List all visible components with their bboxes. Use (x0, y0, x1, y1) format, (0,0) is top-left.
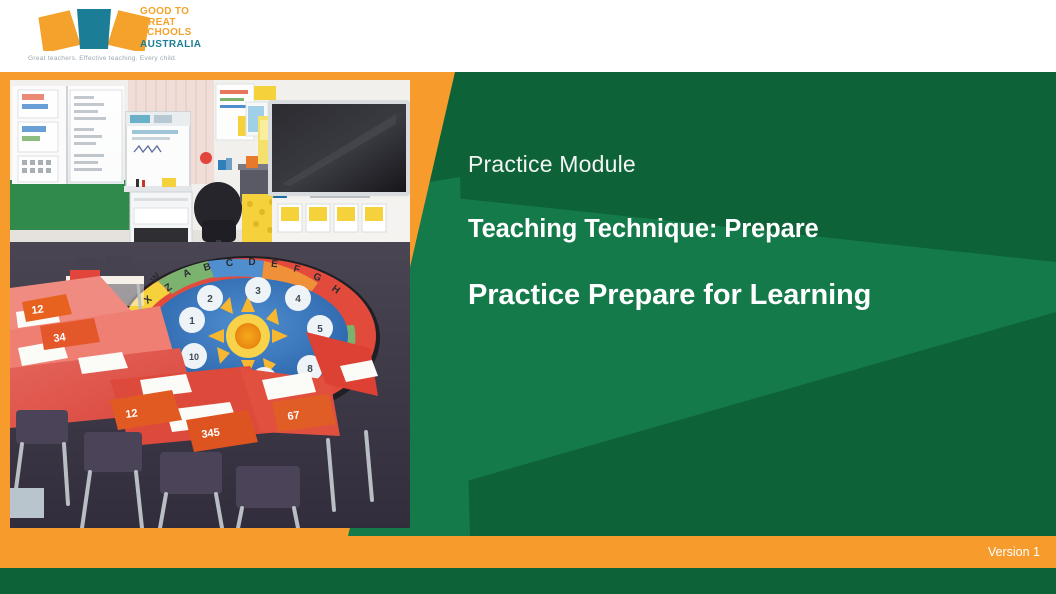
svg-text:10: 10 (189, 352, 199, 362)
classroom-photo: W X Y Z A B C D E F G H (10, 80, 410, 528)
title-text-block: Practice Module Teaching Technique: Prep… (468, 150, 1028, 312)
logo-name-line-1: GOOD TO (140, 7, 220, 18)
technique-title: Teaching Technique: Prepare (468, 214, 1028, 244)
svg-text:345: 345 (201, 427, 221, 441)
svg-text:3: 3 (255, 286, 261, 297)
version-label: Version 1 (988, 536, 1040, 568)
classroom-illustration: W X Y Z A B C D E F G H (10, 80, 410, 528)
svg-text:12: 12 (125, 407, 139, 421)
title-slide: GOOD TO GREAT SCHOOLS AUSTRALIA Great te… (0, 0, 1056, 594)
orange-footer-band: Version 1 (0, 536, 1056, 568)
logo-country-line: AUSTRALIA (140, 39, 220, 51)
svg-text:1: 1 (189, 316, 195, 327)
svg-text:5: 5 (317, 324, 323, 335)
svg-text:C: C (225, 258, 234, 270)
good-to-great-schools-logo: GOOD TO GREAT SCHOOLS AUSTRALIA Great te… (22, 3, 208, 69)
module-eyebrow: Practice Module (468, 150, 1028, 178)
svg-text:D: D (248, 257, 255, 268)
svg-text:2: 2 (207, 294, 213, 305)
practice-title: Practice Prepare for Learning (468, 278, 1028, 312)
slide-header: GOOD TO GREAT SCHOOLS AUSTRALIA Great te… (0, 0, 1056, 72)
svg-text:12: 12 (31, 303, 45, 317)
svg-text:67: 67 (287, 409, 301, 423)
svg-text:4: 4 (295, 294, 301, 305)
logo-wordmark: GOOD TO GREAT SCHOOLS AUSTRALIA (140, 7, 220, 53)
three-books-logo-icon (30, 7, 158, 51)
green-footer-band (0, 568, 1056, 594)
logo-name-line-3: SCHOOLS (140, 28, 220, 39)
logo-tagline: Great teachers. Effective teaching. Ever… (28, 55, 177, 62)
